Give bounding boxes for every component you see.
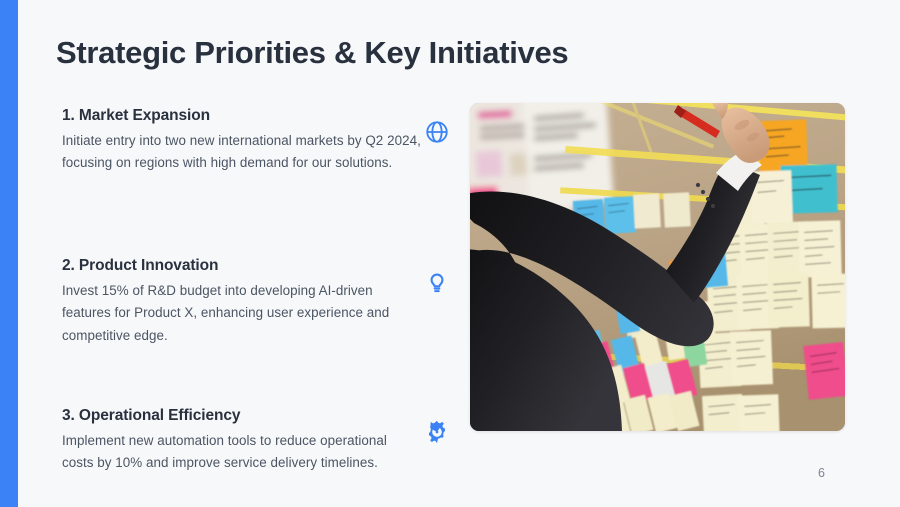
priority-3-heading: 3. Operational Efficiency (62, 406, 434, 427)
globe-icon (424, 119, 450, 145)
priority-3-body: Implement new automation tools to reduce… (62, 430, 422, 475)
workshop-photo (470, 103, 845, 431)
priority-item-1: 1. Market Expansion Initiate entry into … (62, 106, 434, 256)
presentation-slide: Strategic Priorities & Key Initiatives 1… (0, 0, 900, 507)
priority-1-heading: 1. Market Expansion (62, 106, 434, 127)
priority-2-body: Invest 15% of R&D budget into developing… (62, 280, 422, 348)
priority-item-2: 2. Product Innovation Invest 15% of R&D … (62, 256, 434, 406)
left-accent-bar (0, 0, 18, 507)
page-title: Strategic Priorities & Key Initiatives (56, 34, 568, 71)
priority-2-heading: 2. Product Innovation (62, 256, 434, 277)
gear-icon (424, 419, 450, 445)
priorities-list: 1. Market Expansion Initiate entry into … (62, 106, 434, 507)
lightbulb-icon (424, 269, 450, 295)
priority-item-3: 3. Operational Efficiency Implement new … (62, 406, 434, 507)
page-number: 6 (818, 466, 825, 480)
priority-1-body: Initiate entry into two new internationa… (62, 130, 422, 175)
